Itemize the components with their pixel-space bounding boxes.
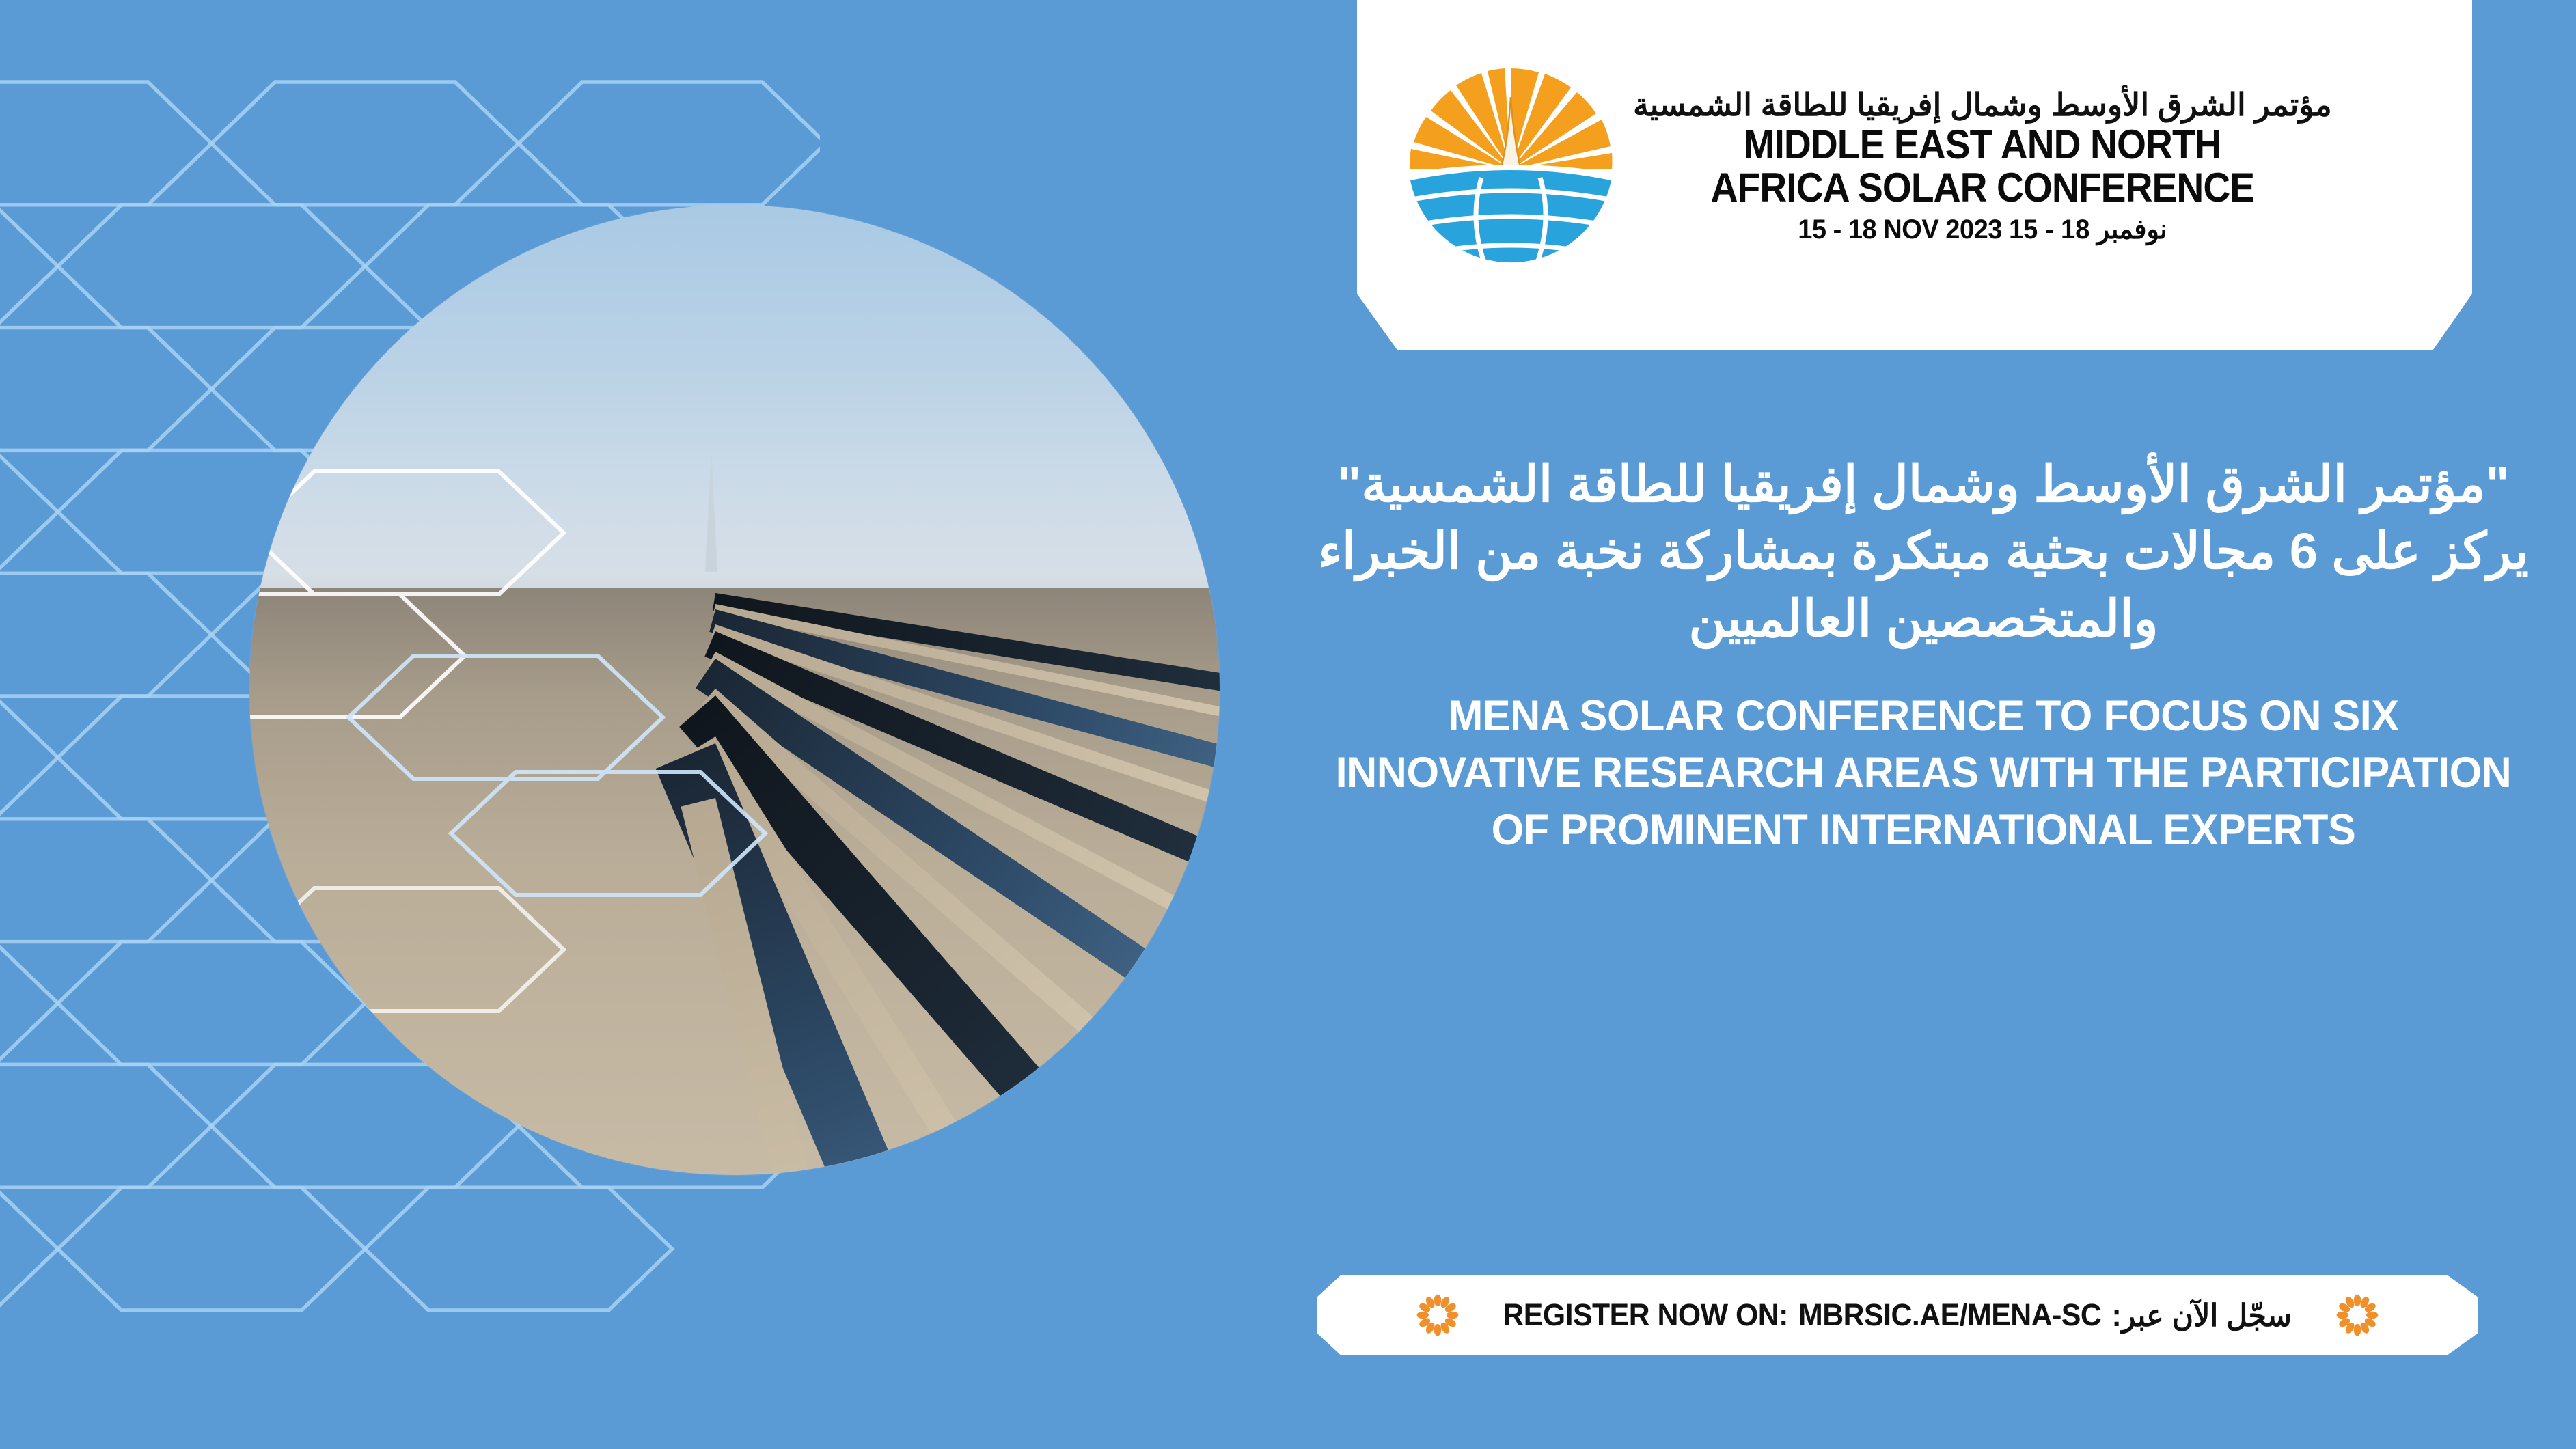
photo-sky — [249, 205, 1220, 593]
logo-english-line-1: MIDDLE EAST AND NORTH — [1744, 123, 2221, 167]
photo-panel-rows — [249, 593, 1220, 1175]
logo-english-line-2: AFRICA SOLAR CONFERENCE — [1711, 166, 2255, 210]
logo-date: 15 - 18 NOV 2023 نوفمبر 18 - 15 — [1798, 214, 2167, 245]
headline-column: "مؤتمر الشرق الأوسط وشمال إفريقيا للطاقة… — [1285, 451, 2562, 859]
sun-flower-icon — [1416, 1294, 1459, 1336]
solar-farm-photograph — [249, 205, 1220, 1175]
headline-english: MENA SOLAR CONFERENCE TO FOCUS ON SIX IN… — [1304, 688, 2543, 858]
headline-arabic: "مؤتمر الشرق الأوسط وشمال إفريقيا للطاقة… — [1285, 451, 2562, 652]
register-bar[interactable]: REGISTER NOW ON: MBRSIC.AE/MENA-SC سجّل … — [1317, 1275, 2478, 1355]
register-url[interactable]: MBRSIC.AE/MENA-SC — [1798, 1297, 2101, 1333]
mena-solar-conference-logo-icon — [1405, 53, 1617, 279]
register-text[interactable]: REGISTER NOW ON: MBRSIC.AE/MENA-SC سجّل … — [1503, 1297, 2292, 1334]
logo-card: مؤتمر الشرق الأوسط وشمال إفريقيا للطاقة … — [1357, 0, 2472, 350]
register-arabic-label: سجّل الآن عبر: — [2112, 1297, 2292, 1334]
sun-flower-icon — [2336, 1294, 2379, 1336]
photo-tower — [705, 452, 717, 572]
register-english-label: REGISTER NOW ON: — [1503, 1297, 1789, 1333]
logo-arabic-title: مؤتمر الشرق الأوسط وشمال إفريقيا للطاقة … — [1633, 87, 2332, 123]
